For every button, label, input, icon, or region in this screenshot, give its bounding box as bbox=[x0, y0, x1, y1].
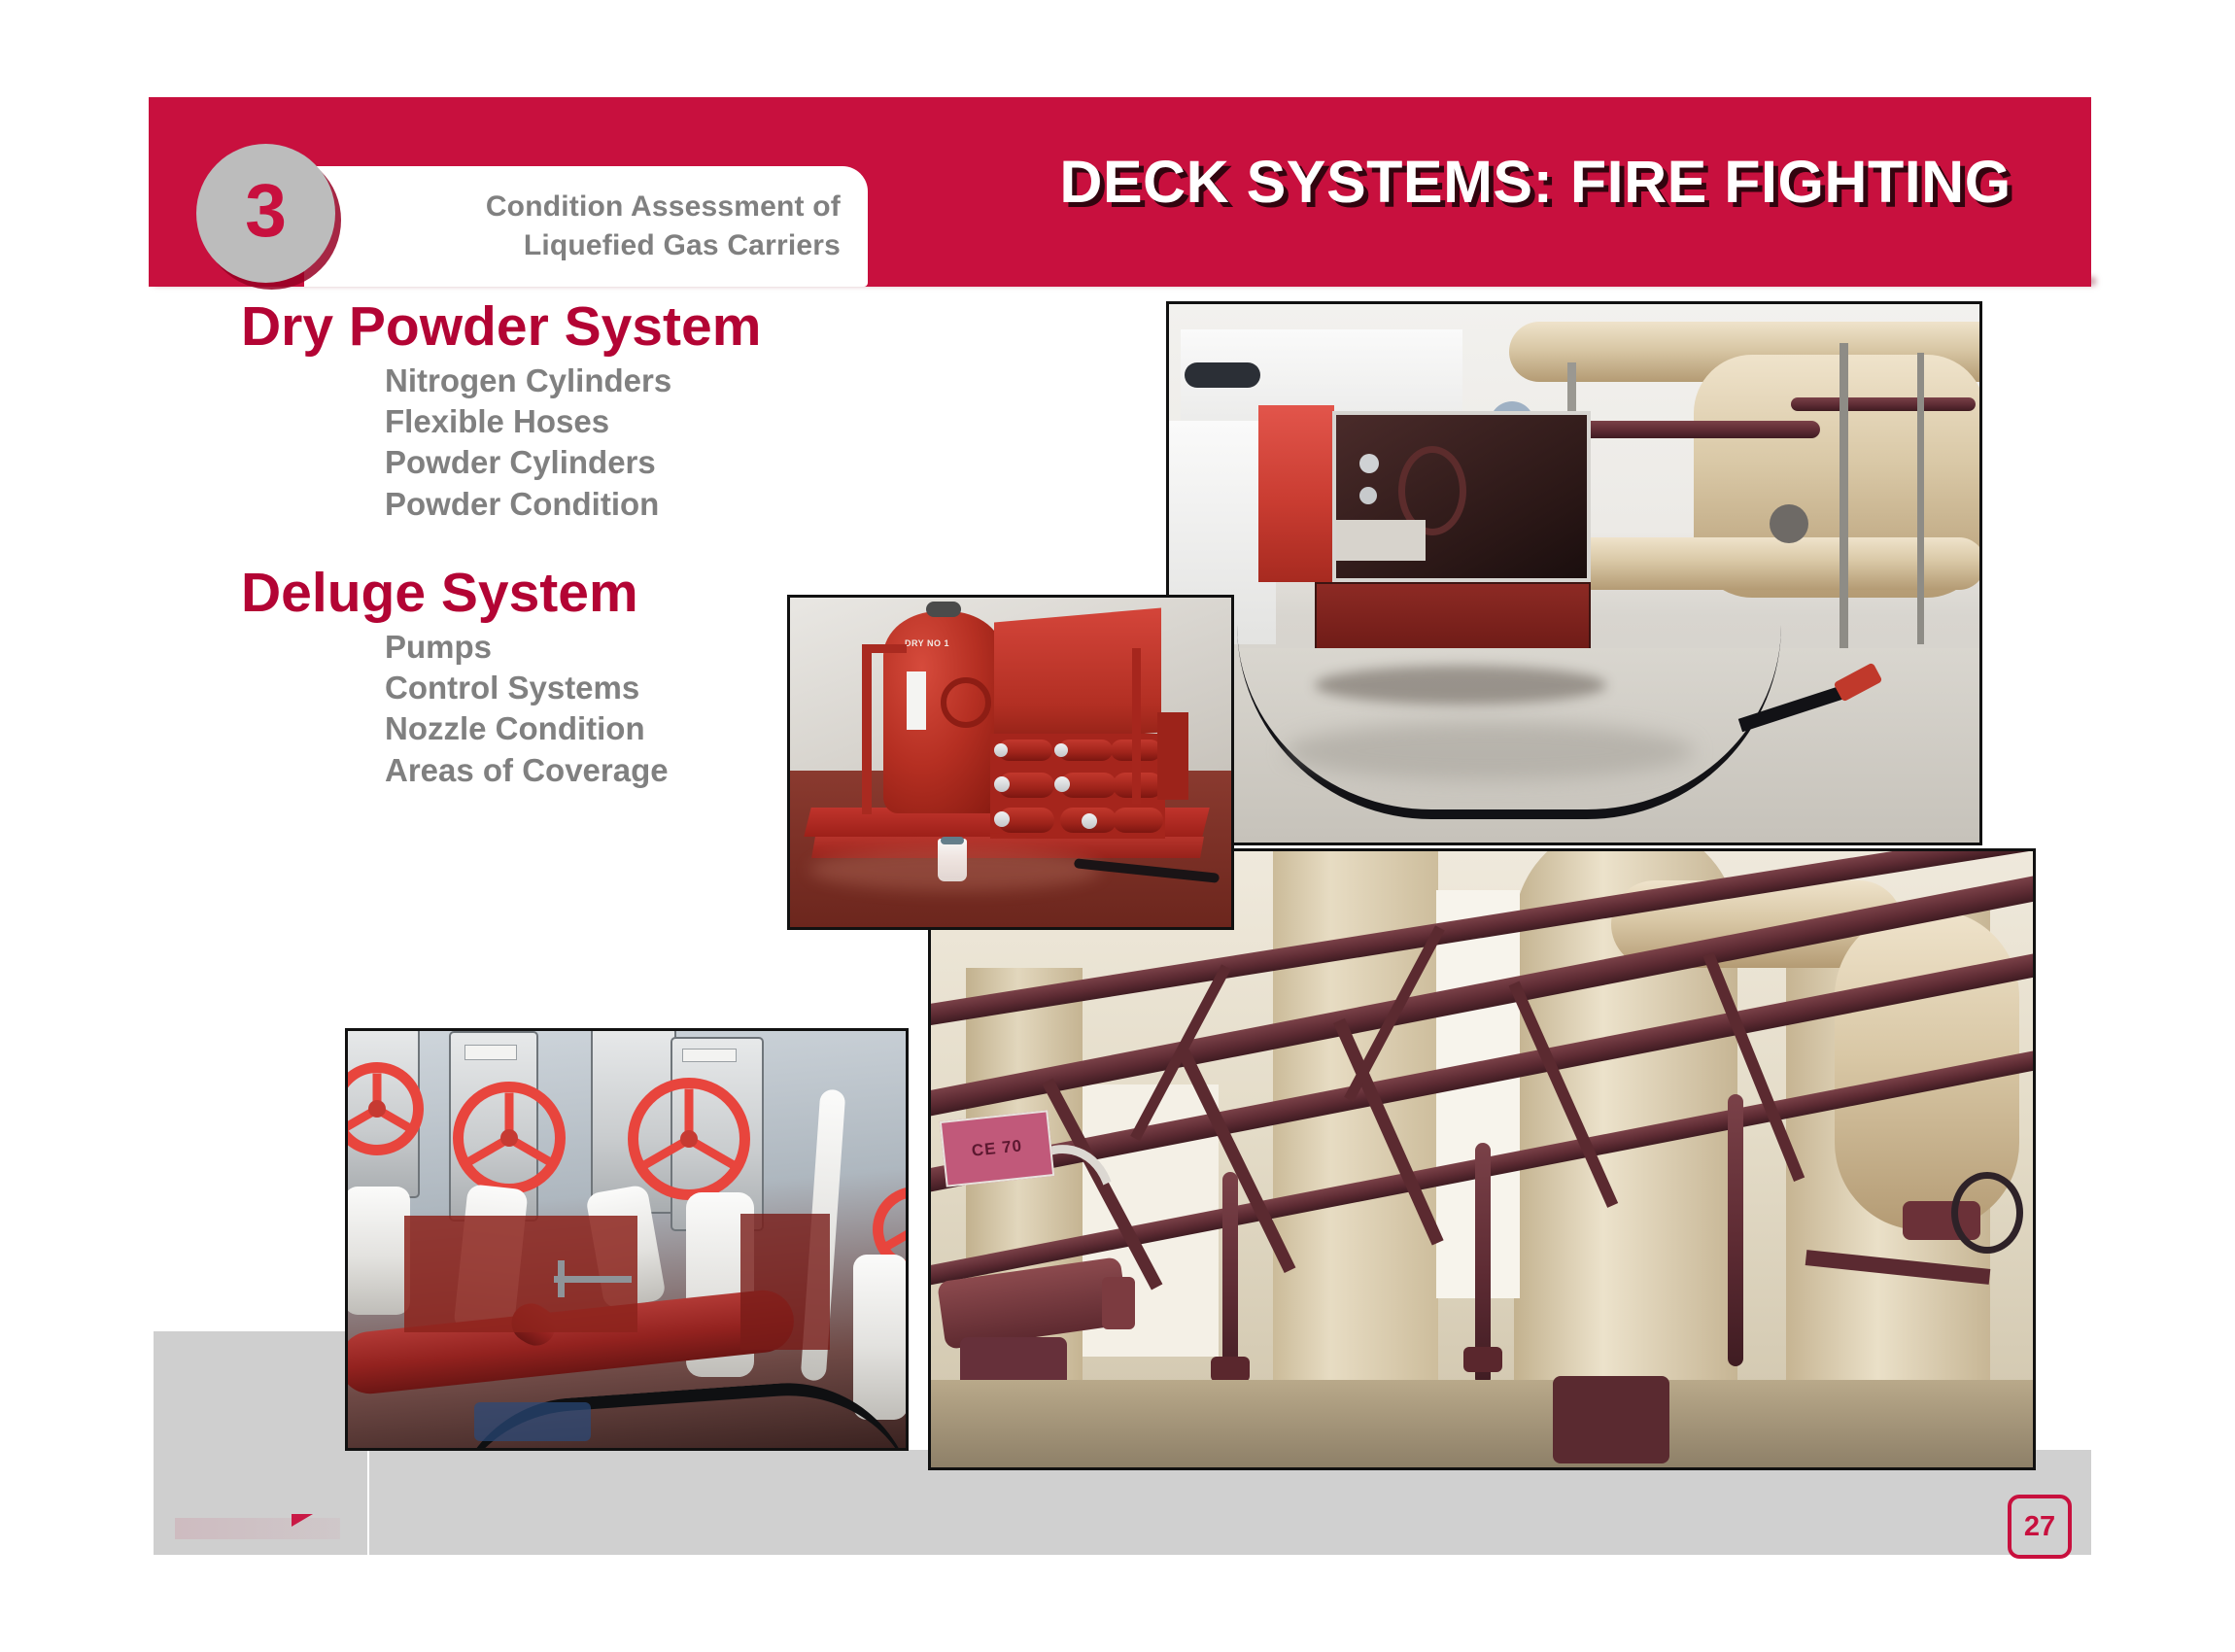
footer-logo-ghost bbox=[175, 1518, 340, 1539]
gauge-icon bbox=[1359, 487, 1377, 504]
red-bulkhead bbox=[740, 1214, 830, 1350]
vessel-fill-cap bbox=[926, 602, 961, 617]
skid-rail bbox=[1132, 648, 1141, 804]
window-slot bbox=[1185, 362, 1260, 388]
deck-floor bbox=[931, 1380, 2033, 1467]
page-number-badge: 27 bbox=[2008, 1495, 2072, 1559]
list-item: Control Systems bbox=[385, 668, 843, 708]
section-heading-dry-powder: Dry Powder System bbox=[241, 299, 843, 355]
pipe-support-block bbox=[1553, 1376, 1669, 1463]
steel-pipe bbox=[1791, 397, 1976, 411]
content-outline: Dry Powder System Nitrogen Cylinders Fle… bbox=[241, 299, 843, 791]
pipe-support bbox=[1917, 353, 1924, 644]
dry-powder-skid-photo: DRY NO 1 bbox=[787, 595, 1234, 930]
section-number-badge: 3 bbox=[196, 144, 335, 283]
section-heading-deluge: Deluge System bbox=[241, 566, 843, 621]
section-number-label: 3 bbox=[245, 174, 287, 249]
valve-stem bbox=[558, 1260, 565, 1297]
header-subtitle-box: Condition Assessment of Liquefied Gas Ca… bbox=[304, 166, 868, 287]
skid-rail bbox=[862, 644, 907, 653]
cylinder-valve-cap bbox=[1054, 776, 1070, 792]
equipment-box bbox=[1336, 520, 1426, 561]
list-item: Nitrogen Cylinders bbox=[385, 361, 843, 401]
cylinder-valve-cap bbox=[1082, 813, 1097, 829]
deluge-pump-valves-photo bbox=[345, 1028, 909, 1451]
valve-id-tag bbox=[464, 1045, 517, 1060]
list-item: Flexible Hoses bbox=[385, 401, 843, 442]
pipe-support bbox=[1840, 343, 1848, 654]
valve-stem bbox=[554, 1276, 632, 1283]
header-subtitle-line-1: Condition Assessment of bbox=[486, 188, 841, 226]
list-item: Pumps bbox=[385, 627, 843, 668]
equipment-id-tag: CE 70 bbox=[940, 1110, 1054, 1187]
riser-pipe bbox=[345, 1187, 410, 1315]
deck-fire-fighting-cabinet-photo bbox=[1166, 301, 1982, 845]
spray-nozzle bbox=[1211, 1357, 1250, 1382]
skid-rail bbox=[862, 644, 872, 814]
list-item: Powder Condition bbox=[385, 484, 843, 525]
red-bulkhead bbox=[404, 1216, 637, 1332]
nozzle-drop-pipe bbox=[1728, 1094, 1743, 1366]
floor-reflection bbox=[809, 848, 1101, 891]
control-box bbox=[1157, 712, 1188, 800]
page-title: DECK SYSTEMS: FIRE FIGHTING bbox=[991, 148, 2080, 216]
gauge-icon bbox=[1359, 454, 1379, 473]
vessel-handwheel-icon bbox=[941, 677, 991, 728]
slide-canvas: Condition Assessment of Liquefied Gas Ca… bbox=[0, 0, 2235, 1652]
list-item: Powder Cylinders bbox=[385, 442, 843, 483]
header-subtitle-line-2: Liquefied Gas Carriers bbox=[524, 226, 841, 265]
cylinder-valve-cap bbox=[994, 743, 1008, 757]
sub-list-dry-powder: Nitrogen Cylinders Flexible Hoses Powder… bbox=[241, 361, 843, 525]
wet-patch bbox=[1286, 722, 1694, 780]
bucket-contents bbox=[941, 837, 964, 844]
list-item: Nozzle Condition bbox=[385, 708, 843, 749]
sub-list-deluge: Pumps Control Systems Nozzle Condition A… bbox=[241, 627, 843, 791]
cylinder-valve-cap bbox=[1054, 743, 1068, 757]
riser-pipe bbox=[853, 1255, 908, 1420]
vessel-label-plate bbox=[907, 671, 926, 730]
control-tubing bbox=[1951, 1172, 2023, 1254]
valve-id-tag bbox=[682, 1049, 737, 1062]
cylinder-valve-cap bbox=[994, 811, 1010, 827]
valve-handwheel bbox=[453, 1082, 566, 1194]
footer-logo-mark-icon bbox=[292, 1514, 313, 1527]
valve-handwheel bbox=[628, 1078, 750, 1200]
vessel-stencil-text: DRY NO 1 bbox=[905, 638, 949, 648]
deluge-spray-piping-photo: CE 70 bbox=[928, 848, 2036, 1470]
blue-equipment bbox=[474, 1402, 591, 1441]
list-item: Areas of Coverage bbox=[385, 750, 843, 791]
spray-nozzle bbox=[1463, 1347, 1502, 1372]
nitrogen-cylinder bbox=[1113, 808, 1163, 833]
valve-body bbox=[1770, 504, 1808, 543]
cabinet-door-panel bbox=[1258, 405, 1334, 582]
valve-flange bbox=[1102, 1277, 1135, 1329]
cylinder-valve-cap bbox=[994, 776, 1010, 792]
